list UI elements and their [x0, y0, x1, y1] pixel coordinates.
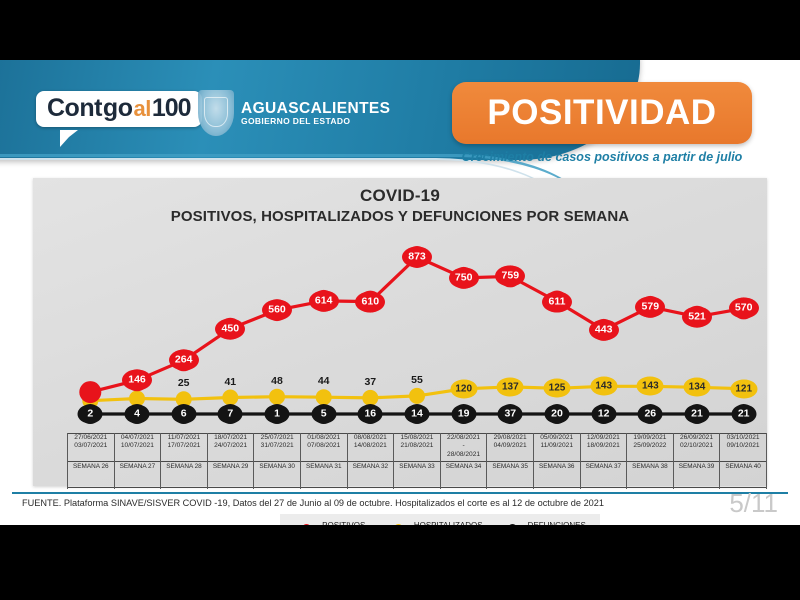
- axis-date-end: 07/08/2021: [301, 442, 347, 450]
- axis-date-end: 14/08/2021: [348, 442, 394, 450]
- x-axis-column-9: 29/08/202104/09/2021SEMANA 35: [486, 433, 533, 489]
- axis-date-end: 04/09/2021: [487, 442, 533, 450]
- coat-of-arms-icon: [198, 90, 234, 136]
- x-axis-column-11: 12/09/202118/09/2021SEMANA 37: [580, 433, 627, 489]
- x-axis-table: 27/06/202103/07/2021SEMANA 2604/07/20211…: [67, 433, 767, 489]
- legend-item-defunciones[interactable]: DEFUNCIONESCOVID-19: [500, 521, 586, 525]
- legend-label: HOSPITALIZADOSCOVID-19: [414, 521, 483, 525]
- slide-canvas: Contgo al 100 AGUASCALIENTES GOBIERNO DE…: [0, 60, 800, 525]
- axis-date-start: 01/08/2021: [301, 434, 347, 442]
- axis-date-end: 24/07/2021: [208, 442, 254, 450]
- legend-label-line1: POSITIVOS: [322, 521, 369, 525]
- x-axis-column-4: 25/07/202131/07/2021SEMANA 30: [253, 433, 300, 489]
- logo-speech-tail: [60, 130, 78, 147]
- axis-week-label-11: SEMANA 37: [581, 463, 627, 471]
- logo-text-contigo: Cont: [47, 96, 102, 121]
- gob-subtitle: GOBIERNO DEL ESTADO: [241, 117, 390, 126]
- legend-label: POSITIVOSSARS-CoV-2: [322, 521, 369, 525]
- logo-text-al: al: [133, 98, 150, 120]
- axis-date-start: 27/06/2021: [68, 434, 114, 442]
- axis-date-start: 05/09/2021: [534, 434, 580, 442]
- slide-title-text: POSITIVIDAD: [487, 93, 716, 133]
- axis-date-end: 25/09/2022: [627, 442, 673, 450]
- axis-date-start: 19/09/2021: [627, 434, 673, 442]
- axis-week-label-8: SEMANA 34: [441, 463, 487, 471]
- axis-date-start: 18/07/2021: [208, 434, 254, 442]
- x-axis-column-0: 27/06/202103/07/2021SEMANA 26: [67, 433, 114, 489]
- gob-state-name: AGUASCALIENTES: [241, 100, 390, 117]
- axis-week-label-0: SEMANA 26: [68, 463, 114, 471]
- chart-panel: COVID-19 POSITIVOS, HOSPITALIZADOS Y DEF…: [33, 178, 767, 486]
- axis-date-start: 26/09/2021: [674, 434, 720, 442]
- axis-date-start: 03/10/2021: [720, 434, 766, 442]
- slide-root: Contgo al 100 AGUASCALIENTES GOBIERNO DE…: [0, 0, 800, 600]
- page-number: 5/11: [729, 488, 778, 519]
- axis-date-end: 02/10/2021: [674, 442, 720, 450]
- chart-plot-area: 2541484437551201371251431431341212467151…: [33, 230, 767, 425]
- axis-week-label-12: SEMANA 38: [627, 463, 673, 471]
- axis-date-start: 11/07/2021: [161, 434, 207, 442]
- logo-text-contigo-suffix: go: [103, 96, 133, 121]
- x-axis-column-7: 15/08/202121/08/2021SEMANA 33: [393, 433, 440, 489]
- axis-date-start: 15/08/2021: [394, 434, 440, 442]
- chart-legend: POSITIVOSSARS-CoV-2HOSPITALIZADOSCOVID-1…: [280, 514, 600, 525]
- axis-week-label-1: SEMANA 27: [115, 463, 161, 471]
- slide-subtitle: Crecimiento de casos positivos a partir …: [452, 150, 752, 164]
- footer-source-text: FUENTE. Plataforma SINAVE/SISVER COVID -…: [22, 498, 604, 508]
- chart-lines-svg: [33, 230, 767, 425]
- x-axis-column-8: 22/08/2021-28/08/2021SEMANA 34: [440, 433, 487, 489]
- chart-title: COVID-19: [33, 186, 767, 206]
- axis-date-end: 17/07/2021: [161, 442, 207, 450]
- axis-date-end: 10/07/2021: [115, 442, 161, 450]
- x-axis-column-2: 11/07/202117/07/2021SEMANA 28: [160, 433, 207, 489]
- axis-week-label-7: SEMANA 33: [394, 463, 440, 471]
- axis-date-start: 22/08/2021: [441, 434, 487, 442]
- legend-item-positivos[interactable]: POSITIVOSSARS-CoV-2: [294, 521, 369, 525]
- legend-label: DEFUNCIONESCOVID-19: [528, 521, 586, 525]
- legend-label-line1: DEFUNCIONES: [528, 521, 586, 525]
- x-axis-column-3: 18/07/202124/07/2021SEMANA 29: [207, 433, 254, 489]
- axis-week-label-5: SEMANA 31: [301, 463, 347, 471]
- x-axis-column-12: 19/09/202125/09/2022SEMANA 38: [626, 433, 673, 489]
- axis-week-label-9: SEMANA 35: [487, 463, 533, 471]
- axis-week-label-6: SEMANA 32: [348, 463, 394, 471]
- axis-week-label-10: SEMANA 36: [534, 463, 580, 471]
- axis-date-end: 03/07/2021: [68, 442, 114, 450]
- x-axis-column-1: 04/07/202110/07/2021SEMANA 27: [114, 433, 161, 489]
- axis-date-start: 12/09/2021: [581, 434, 627, 442]
- government-lockup: AGUASCALIENTES GOBIERNO DEL ESTADO: [198, 90, 390, 136]
- axis-date-start: 25/07/2021: [254, 434, 300, 442]
- contigo-al-100-logo: Contgo al 100: [36, 91, 202, 127]
- axis-week-label-4: SEMANA 30: [254, 463, 300, 471]
- legend-swatch-icon: [294, 523, 318, 525]
- chart-subtitle: POSITIVOS, HOSPITALIZADOS Y DEFUNCIONES …: [33, 208, 767, 225]
- legend-swatch-icon: [500, 523, 524, 525]
- axis-date-end: 18/09/2021: [581, 442, 627, 450]
- axis-date-start: 29/08/2021: [487, 434, 533, 442]
- axis-date-end: 28/08/2021: [441, 451, 487, 459]
- axis-date-start: 04/07/2021: [115, 434, 161, 442]
- x-axis-column-5: 01/08/202107/08/2021SEMANA 31: [300, 433, 347, 489]
- axis-date-end: 21/08/2021: [394, 442, 440, 450]
- x-axis-column-6: 08/08/202114/08/2021SEMANA 32: [347, 433, 394, 489]
- axis-week-label-14: SEMANA 40: [720, 463, 766, 471]
- axis-week-label-2: SEMANA 28: [161, 463, 207, 471]
- axis-date-end: 09/10/2021: [720, 442, 766, 450]
- x-axis-column-13: 26/09/202102/10/2021SEMANA 39: [673, 433, 720, 489]
- legend-label-line1: HOSPITALIZADOS: [414, 521, 483, 525]
- axis-week-label-3: SEMANA 29: [208, 463, 254, 471]
- logo-text-100: 100: [152, 96, 191, 121]
- axis-date-sep: -: [441, 442, 487, 450]
- legend-item-hospitalizados[interactable]: HOSPITALIZADOSCOVID-19: [386, 521, 483, 525]
- axis-date-end: 31/07/2021: [254, 442, 300, 450]
- slide-title-badge: POSITIVIDAD: [452, 82, 752, 144]
- legend-swatch-icon: [386, 523, 410, 525]
- axis-week-label-13: SEMANA 39: [674, 463, 720, 471]
- x-axis-column-10: 05/09/202111/09/2021SEMANA 36: [533, 433, 580, 489]
- axis-date-start: 08/08/2021: [348, 434, 394, 442]
- axis-date-end: 11/09/2021: [534, 442, 580, 450]
- x-axis-column-14: 03/10/202109/10/2021SEMANA 40: [719, 433, 767, 489]
- footer-divider: [12, 492, 788, 494]
